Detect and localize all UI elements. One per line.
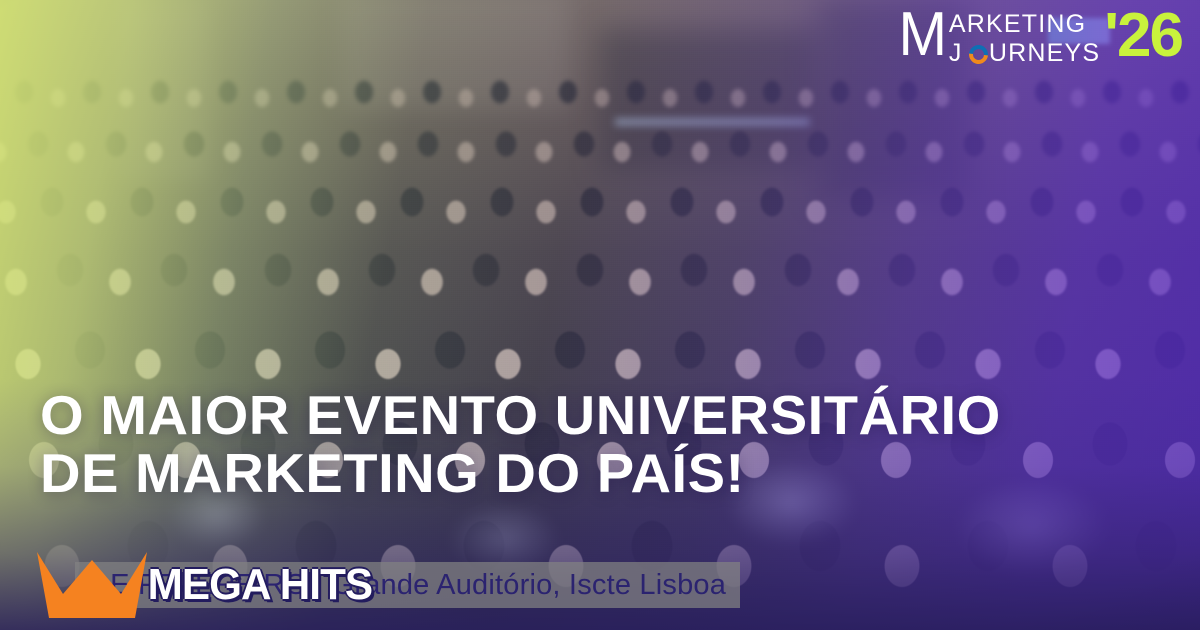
sponsor-name: MEGA HITS xyxy=(148,560,372,610)
marketing-journeys-logo[interactable]: M ARKETING J URNEYS '26 xyxy=(897,6,1182,66)
logo-letter-j: J xyxy=(949,41,968,67)
headline-line-2: DE MARKETING DO PAÍS! xyxy=(40,444,1193,502)
logo-letter-m: M xyxy=(899,6,946,63)
logo-circle-icon xyxy=(965,41,992,68)
logo-line-journeys: J URNEYS xyxy=(949,41,1100,67)
crown-icon xyxy=(33,548,151,622)
logo-journeys-rest: URNEYS xyxy=(989,41,1100,67)
headline-line-1: O MAIOR EVENTO UNIVERSITÁRIO xyxy=(40,386,1193,444)
logo-text-lines: ARKETING J URNEYS xyxy=(949,6,1100,66)
vignette-overlay xyxy=(0,0,1200,630)
logo-year: '26 xyxy=(1104,6,1182,64)
promo-banner: M ARKETING J URNEYS '26 O MAIOR EVENTO U… xyxy=(0,0,1200,630)
logo-wordmark: M ARKETING J URNEYS xyxy=(897,6,1100,66)
sponsor-logo-mega-hits[interactable]: MEGA HITS xyxy=(33,548,377,622)
page-title: O MAIOR EVENTO UNIVERSITÁRIO DE MARKETIN… xyxy=(40,386,1170,503)
logo-line-marketing: ARKETING xyxy=(949,12,1100,38)
